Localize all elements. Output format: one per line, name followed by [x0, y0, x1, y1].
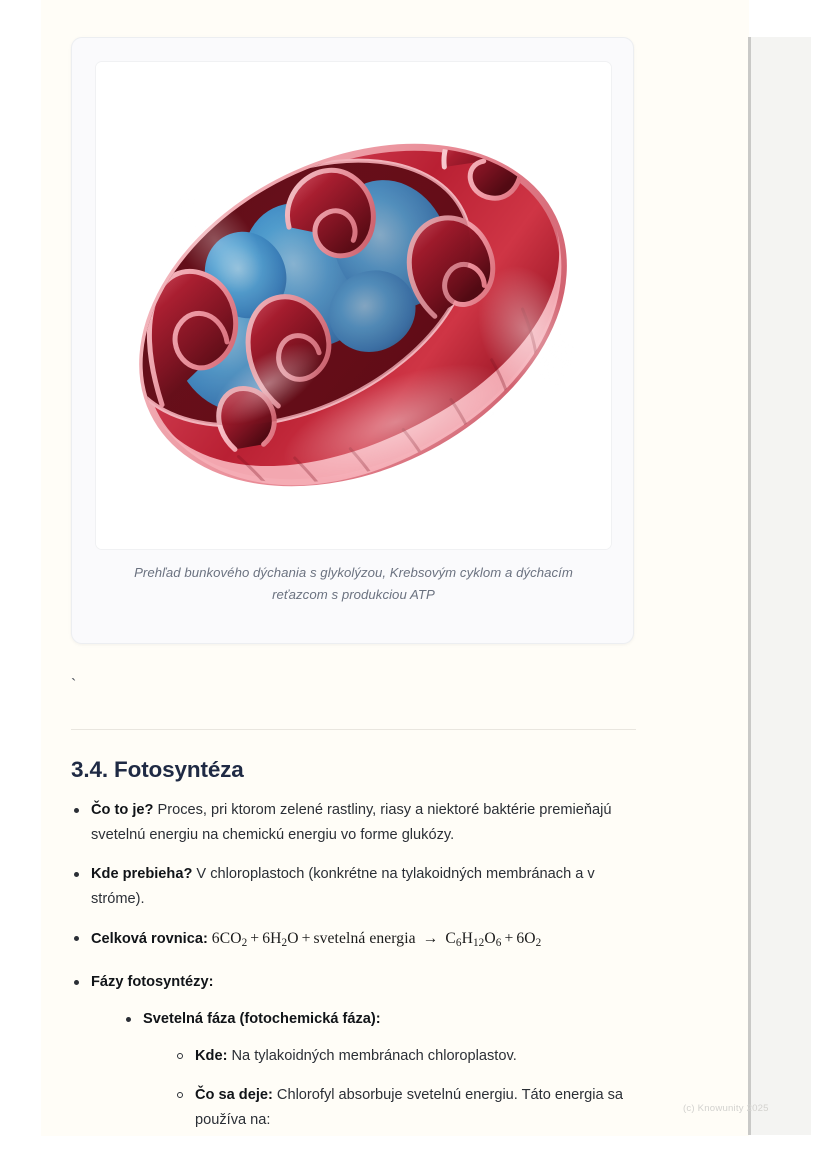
document-content: Prehľad bunkového dýchania s glykolýzou,… — [41, 0, 749, 1136]
bullet-disc-icon — [74, 872, 79, 877]
list-item-text: Na tylakoidných membránach chloroplastov… — [227, 1048, 516, 1064]
figure-image-frame — [95, 61, 612, 550]
list-item-text: Proces, pri ktorom zelené rastliny, rias… — [91, 802, 611, 843]
list-item: Kde prebieha? V chloroplastoch (konkrétn… — [71, 862, 639, 912]
stray-backtick-text: ` — [71, 676, 76, 696]
bullet-ring-icon — [177, 1092, 183, 1098]
list-item-equation: Celková rovnica: 6CO2+6H2O+svetelná ener… — [71, 926, 639, 956]
list-item-lead: Celková rovnica: — [91, 931, 208, 947]
list-item-lead: Čo sa deje: — [195, 1087, 273, 1103]
list-item: Kde: Na tylakoidných membránach chloropl… — [175, 1044, 639, 1069]
mitochondrion-svg — [96, 62, 611, 549]
section-divider — [71, 729, 636, 730]
list-item: Čo sa deje: Chlorofyl absorbuje svetelnú… — [175, 1083, 639, 1133]
list-item-lead: Fázy fotosyntézy: — [91, 974, 213, 990]
list-item-lead: Čo to je? — [91, 802, 153, 818]
bullet-disc-icon — [74, 936, 79, 941]
copyright-watermark: (c) Knowunity 2025 — [683, 1103, 769, 1114]
right-side-panel[interactable] — [751, 37, 811, 1135]
bullet-list-level-1: Čo to je? Proces, pri ktorom zelené rast… — [71, 798, 639, 1133]
list-item: Fázy fotosyntézy: Svetelná fáza (fotoche… — [71, 970, 639, 1133]
bullet-disc-icon — [74, 980, 79, 985]
content-body: Čo to je? Proces, pri ktorom zelené rast… — [71, 798, 639, 1147]
page-title: 3.4. Fotosyntéza — [71, 757, 244, 783]
list-item-lead: Kde: — [195, 1048, 227, 1064]
bullet-list-level-3: Kde: Na tylakoidných membránach chloropl… — [175, 1044, 639, 1133]
list-item-lead: Kde prebieha? — [91, 866, 192, 882]
list-item: Čo to je? Proces, pri ktorom zelené rast… — [71, 798, 639, 848]
list-item-lead: Svetelná fáza (fotochemická fáza): — [143, 1011, 381, 1027]
bullet-ring-icon — [177, 1053, 183, 1059]
figure-caption: Prehľad bunkového dýchania s glykolýzou,… — [112, 562, 595, 606]
bullet-disc-icon — [126, 1017, 131, 1022]
mitochondrion-illustration — [96, 62, 611, 549]
bullet-list-level-2: Svetelná fáza (fotochemická fáza): Kde: … — [123, 1007, 639, 1133]
figure-card: Prehľad bunkového dýchania s glykolýzou,… — [71, 37, 634, 644]
bullet-disc-icon — [74, 808, 79, 813]
list-item: Svetelná fáza (fotochemická fáza): Kde: … — [123, 1007, 639, 1133]
screenshot-viewport: Prehľad bunkového dýchania s glykolýzou,… — [0, 0, 828, 1171]
chemical-equation: 6CO2+6H2O+svetelná energia → C6H12O6+6O2 — [208, 930, 542, 947]
